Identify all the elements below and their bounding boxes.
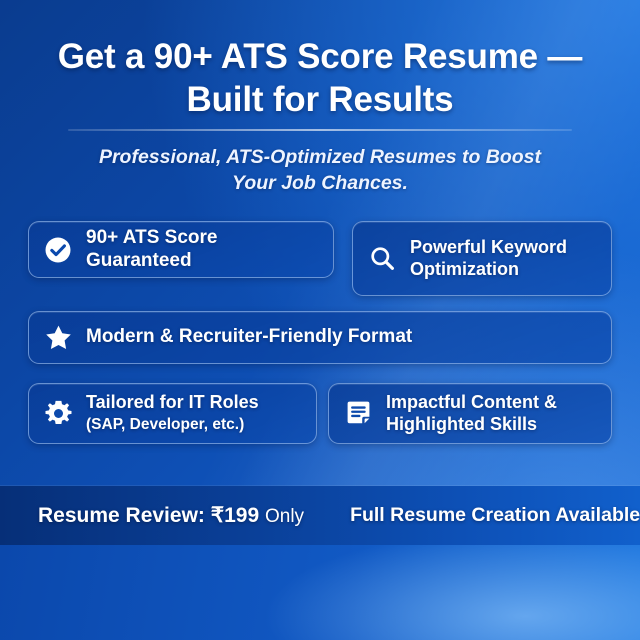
feature-line-1: Impactful Content & (386, 392, 557, 412)
feature-line-2: Optimization (410, 259, 567, 281)
subtitle-line-1: Professional, ATS-Optimized Resumes to B… (99, 146, 541, 168)
feature-line-2: (SAP, Developer, etc.) (86, 416, 259, 435)
subtitle-line-2: Your Job Chances. (70, 171, 570, 197)
headline-line-2: Built for Results (40, 79, 600, 122)
search-icon (367, 244, 397, 274)
feature-label: Powerful Keyword Optimization (410, 237, 567, 280)
document-lines-icon (343, 399, 373, 429)
feature-label: Impactful Content & Highlighted Skills (386, 392, 557, 435)
feature-card-modern-format[interactable]: Modern & Recruiter-Friendly Format (28, 311, 612, 364)
headline-line-1: Get a 90+ ATS Score Resume — (58, 37, 582, 76)
promo-poster: Get a 90+ ATS Score Resume — Built for R… (0, 0, 640, 640)
feature-card-ats-score[interactable]: 90+ ATS Score Guaranteed (28, 221, 334, 278)
feature-line-2: Highlighted Skills (386, 414, 557, 436)
feature-line-1: Powerful Keyword (410, 237, 567, 257)
page-subtitle: Professional, ATS-Optimized Resumes to B… (0, 145, 640, 197)
feature-card-keyword-optimization[interactable]: Powerful Keyword Optimization (352, 221, 612, 296)
bottom-glow (0, 545, 640, 640)
offer-label: Full Resume Creation Available (350, 504, 640, 527)
title-divider (68, 129, 572, 131)
feature-line-1: Modern & Recruiter-Friendly Format (86, 326, 412, 347)
feature-card-tailored-it-roles[interactable]: Tailored for IT Roles (SAP, Developer, e… (28, 383, 317, 444)
price-amount: Resume Review: ₹199 (38, 504, 259, 527)
feature-label: Modern & Recruiter-Friendly Format (86, 326, 412, 349)
gear-icon (43, 399, 73, 429)
page-title: Get a 90+ ATS Score Resume — Built for R… (0, 36, 640, 121)
price-suffix: Only (265, 506, 304, 527)
feature-card-impactful-content[interactable]: Impactful Content & Highlighted Skills (328, 383, 612, 444)
feature-line-1: Tailored for IT Roles (86, 392, 259, 412)
footer-pricing-bar: Resume Review: ₹199 Only Full Resume Cre… (0, 486, 640, 545)
feature-label: 90+ ATS Score Guaranteed (86, 227, 319, 273)
star-icon (43, 323, 73, 353)
check-circle-icon (43, 235, 73, 265)
feature-label: Tailored for IT Roles (SAP, Developer, e… (86, 392, 259, 434)
feature-line-1: 90+ ATS Score Guaranteed (86, 227, 217, 271)
price-label: Resume Review: ₹199 Only (38, 503, 304, 528)
